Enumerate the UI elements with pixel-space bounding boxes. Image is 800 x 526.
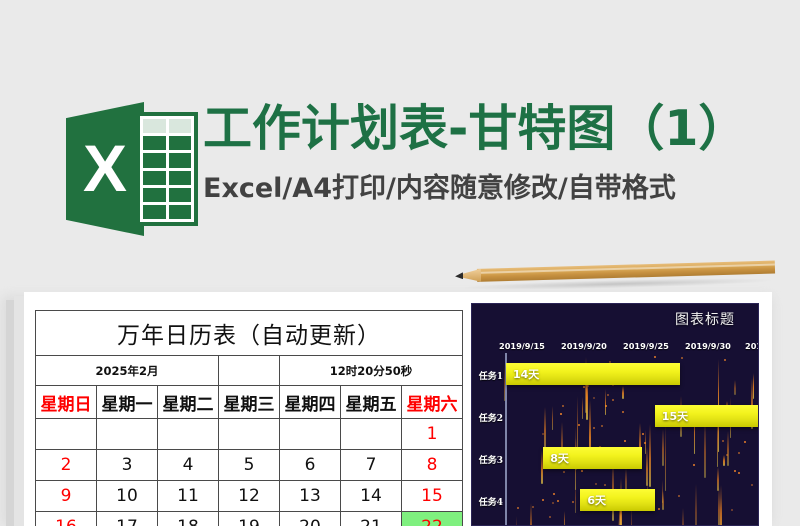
calendar-month-label: 2025年2月 bbox=[36, 356, 219, 386]
calendar-week-row: 2345678 bbox=[36, 450, 463, 481]
gantt-rows: 任务114天任务215天任务38天任务46天 bbox=[471, 358, 759, 526]
gantt-row-label: 任务2 bbox=[473, 411, 503, 424]
gantt-bar[interactable]: 8天 bbox=[543, 447, 642, 469]
x-axis-tick-label: 2019/9/25 bbox=[623, 341, 669, 351]
calendar-body: 万年日历表（自动更新） 2025年2月 12时20分50秒 星期日星期一星期二星… bbox=[36, 311, 463, 526]
calendar-day-cell[interactable]: 8 bbox=[402, 450, 463, 481]
gantt-bar-label: 15天 bbox=[662, 408, 688, 424]
calendar-spacer-cell bbox=[219, 356, 280, 386]
calendar-day-cell[interactable]: 5 bbox=[219, 450, 280, 481]
calendar-panel: 万年日历表（自动更新） 2025年2月 12时20分50秒 星期日星期一星期二星… bbox=[35, 310, 463, 526]
calendar-day-cell[interactable]: 18 bbox=[158, 512, 219, 526]
calendar-day-cell[interactable]: 1 bbox=[402, 419, 463, 450]
calendar-day-cell[interactable] bbox=[219, 419, 280, 450]
calendar-day-cell[interactable]: 12 bbox=[219, 481, 280, 512]
calendar-day-cell[interactable]: 9 bbox=[36, 481, 97, 512]
calendar-day-cell[interactable]: 3 bbox=[97, 450, 158, 481]
calendar-table: 万年日历表（自动更新） 2025年2月 12时20分50秒 星期日星期一星期二星… bbox=[35, 310, 463, 526]
calendar-day-today[interactable]: 22 bbox=[402, 512, 463, 526]
gantt-bar-label: 6天 bbox=[587, 492, 606, 508]
calendar-week-row: 9101112131415 bbox=[36, 481, 463, 512]
gantt-row-label: 任务4 bbox=[473, 495, 503, 508]
calendar-day-cell[interactable] bbox=[36, 419, 97, 450]
calendar-day-cell[interactable]: 7 bbox=[341, 450, 402, 481]
pencil-wood-cone bbox=[461, 269, 481, 283]
gantt-bar[interactable]: 6天 bbox=[580, 489, 654, 511]
gantt-row-label: 任务3 bbox=[473, 453, 503, 466]
calendar-day-cell[interactable] bbox=[341, 419, 402, 450]
calendar-day-cell[interactable] bbox=[158, 419, 219, 450]
calendar-day-cell[interactable] bbox=[280, 419, 341, 450]
calendar-day-cell[interactable]: 6 bbox=[280, 450, 341, 481]
calendar-title: 万年日历表（自动更新） bbox=[36, 311, 463, 356]
gantt-row: 任务215天 bbox=[471, 400, 759, 442]
calendar-day-cell[interactable]: 2 bbox=[36, 450, 97, 481]
template-preview-canvas: X 工作计划表-甘特图（1） Excel/A4打印/内容随意修改/自带格式 万年… bbox=[0, 0, 800, 526]
calendar-day-cell[interactable]: 16 bbox=[36, 512, 97, 526]
calendar-time-label: 12时20分50秒 bbox=[280, 356, 463, 386]
calendar-day-cell[interactable]: 14 bbox=[341, 481, 402, 512]
calendar-weekday-6: 星期六 bbox=[402, 386, 463, 419]
page-title: 工作计划表-甘特图（1） bbox=[203, 98, 800, 160]
excel-logo-grid bbox=[143, 119, 191, 219]
x-axis-tick-label: 2019/9/20 bbox=[561, 341, 607, 351]
calendar-title-row: 万年日历表（自动更新） bbox=[36, 311, 463, 356]
calendar-weekday-1: 星期一 bbox=[97, 386, 158, 419]
calendar-weekday-4: 星期四 bbox=[280, 386, 341, 419]
gantt-row-label: 任务1 bbox=[473, 369, 503, 382]
calendar-day-cell[interactable]: 21 bbox=[341, 512, 402, 526]
chart-title: 图表标题 bbox=[675, 309, 735, 329]
gantt-bar[interactable]: 14天 bbox=[506, 363, 680, 385]
page-subtitle: Excel/A4打印/内容随意修改/自带格式 bbox=[203, 170, 800, 208]
calendar-day-cell[interactable]: 11 bbox=[158, 481, 219, 512]
gantt-bar-label: 14天 bbox=[513, 366, 539, 382]
calendar-day-cell[interactable]: 4 bbox=[158, 450, 219, 481]
header-banner: X 工作计划表-甘特图（1） Excel/A4打印/内容随意修改/自带格式 bbox=[0, 40, 800, 215]
calendar-day-cell[interactable]: 19 bbox=[219, 512, 280, 526]
calendar-day-cell[interactable]: 10 bbox=[97, 481, 158, 512]
x-axis-tick-label: 2019/9/30 bbox=[685, 341, 731, 351]
calendar-weekday-2: 星期二 bbox=[158, 386, 219, 419]
title-block: 工作计划表-甘特图（1） Excel/A4打印/内容随意修改/自带格式 bbox=[203, 98, 800, 208]
calendar-day-cell[interactable]: 15 bbox=[402, 481, 463, 512]
calendar-week-row: 16171819202122 bbox=[36, 512, 463, 526]
pencil-body bbox=[477, 261, 775, 282]
gantt-row: 任务114天 bbox=[471, 358, 759, 400]
calendar-weekday-5: 星期五 bbox=[341, 386, 402, 419]
calendar-weekday-3: 星期三 bbox=[219, 386, 280, 419]
gantt-bar-label: 8天 bbox=[550, 450, 569, 466]
excel-logo-letter: X bbox=[74, 128, 136, 208]
calendar-day-cell[interactable]: 17 bbox=[97, 512, 158, 526]
x-axis-tick-label: 2019/9/15 bbox=[499, 341, 545, 351]
calendar-weekday-row: 星期日星期一星期二星期三星期四星期五星期六 bbox=[36, 386, 463, 419]
x-axis-tick-label: 2019/10/5 bbox=[745, 341, 759, 351]
gantt-bar[interactable]: 15天 bbox=[655, 405, 759, 427]
chart-x-axis: 2019/9/152019/9/202019/9/252019/9/302019… bbox=[471, 341, 759, 355]
calendar-day-cell[interactable]: 20 bbox=[280, 512, 341, 526]
gantt-row: 任务38天 bbox=[471, 442, 759, 484]
gantt-chart-panel: 图表标题 2019/9/152019/9/202019/9/252019/9/3… bbox=[471, 303, 759, 526]
calendar-day-cell[interactable]: 13 bbox=[280, 481, 341, 512]
gantt-plot-area: 图表标题 2019/9/152019/9/202019/9/252019/9/3… bbox=[471, 303, 759, 526]
excel-logo: X bbox=[66, 98, 198, 240]
gantt-row: 任务46天 bbox=[471, 484, 759, 526]
pencil-graphite-tip bbox=[455, 272, 463, 279]
excel-logo-sheet bbox=[136, 112, 198, 226]
calendar-weekday-0: 星期日 bbox=[36, 386, 97, 419]
calendar-day-cell[interactable] bbox=[97, 419, 158, 450]
calendar-meta-row: 2025年2月 12时20分50秒 bbox=[36, 356, 463, 386]
calendar-week-row: 1 bbox=[36, 419, 463, 450]
